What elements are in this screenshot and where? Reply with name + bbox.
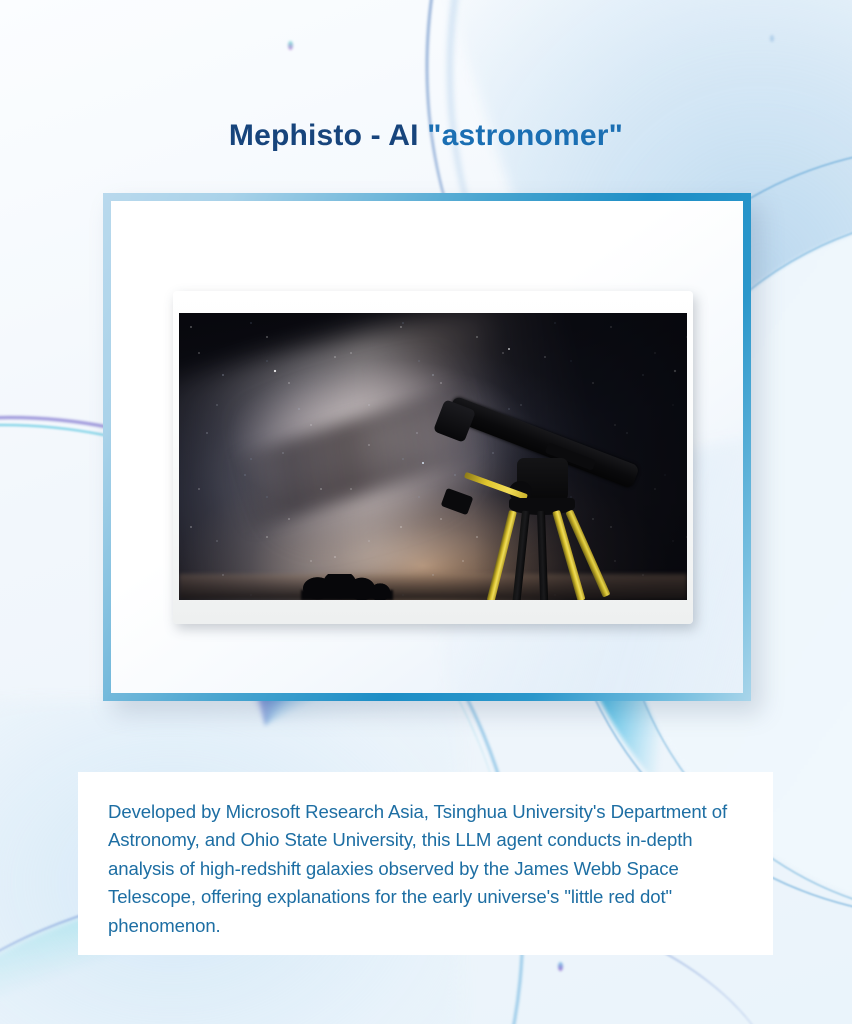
decorative-speck-bottom — [558, 962, 563, 971]
telescope-control-knob — [441, 487, 474, 515]
description-text: Developed by Microsoft Research Asia, Ts… — [108, 798, 743, 940]
decorative-speck-corner — [770, 35, 774, 42]
tripod-leg-left-inner — [512, 510, 530, 600]
description-panel: Developed by Microsoft Research Asia, Ts… — [78, 772, 773, 955]
tripod-leg-left — [487, 510, 517, 600]
photo-frame — [173, 291, 693, 624]
decorative-speck-top — [288, 41, 293, 50]
tree-silhouette — [301, 574, 393, 600]
page-title-main: Mephisto - AI — [229, 119, 427, 152]
page-title: Mephisto - AI "astronomer" — [0, 118, 852, 154]
image-card — [103, 193, 751, 701]
slide-canvas: Mephisto - AI "astronomer" — [0, 0, 852, 1024]
page-title-accent: "astronomer" — [427, 119, 623, 152]
image-card-inner — [111, 201, 743, 693]
telescope-photo — [179, 313, 687, 600]
tripod-leg-center — [537, 511, 548, 600]
telescope-silhouette — [433, 388, 687, 600]
